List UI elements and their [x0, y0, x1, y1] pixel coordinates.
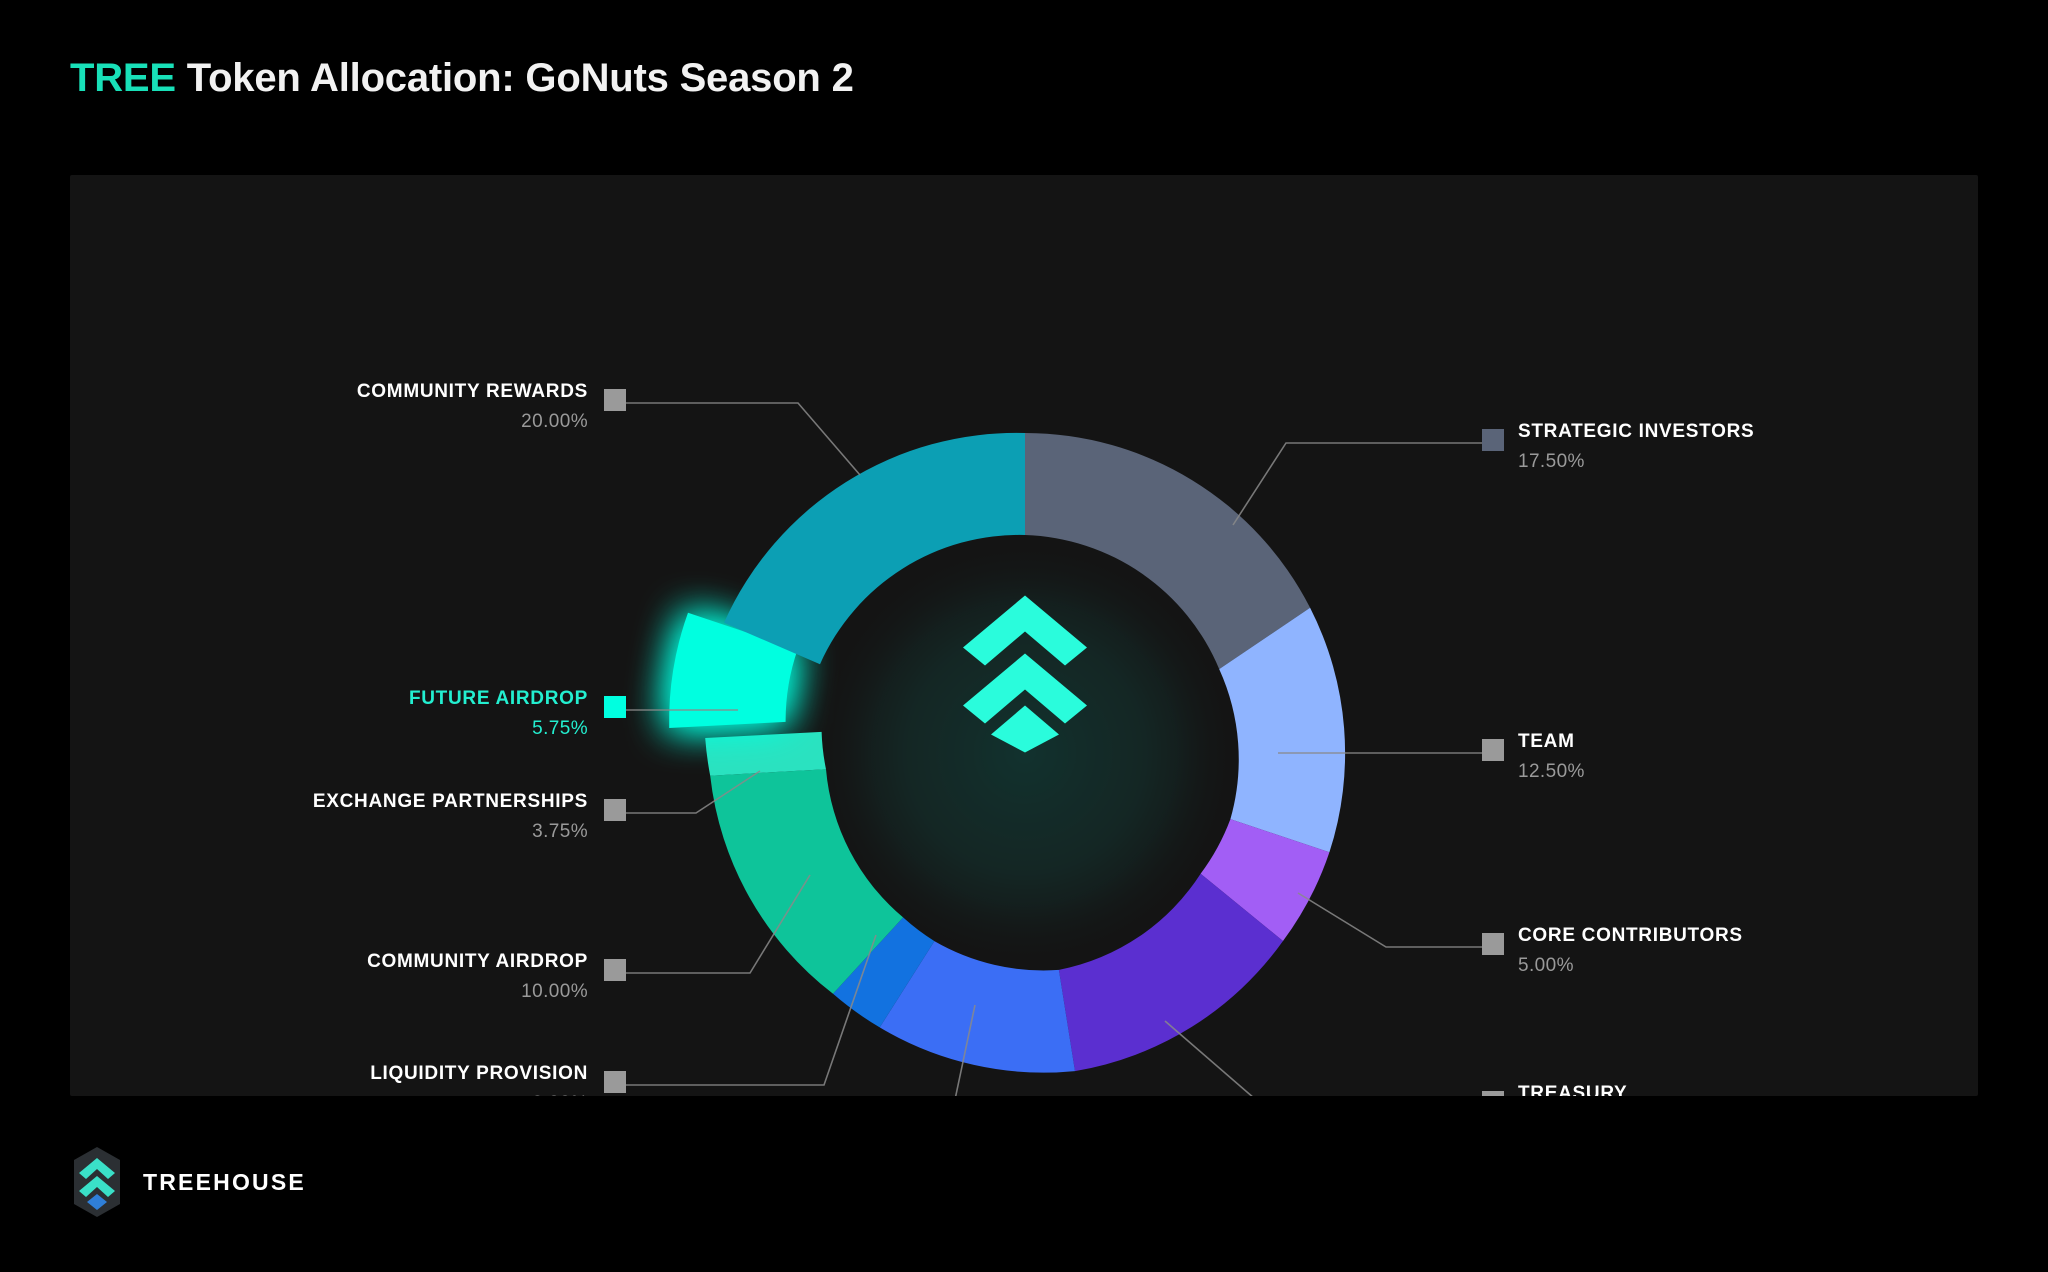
donut-core-inner: [875, 603, 1175, 903]
leader-line-strategic-investors: [1233, 443, 1482, 525]
legend-value: 3.00%: [370, 1094, 588, 1096]
donut-chart: STRATEGIC INVESTORS 17.50% TEAM 12.50% C…: [70, 175, 1978, 1096]
legend-item-community-rewards[interactable]: COMMUNITY REWARDS 20.00%: [357, 382, 588, 432]
legend-item-exchange-partnerships[interactable]: EXCHANGE PARTNERSHIPS 3.75%: [313, 792, 588, 842]
legend-swatch-community-airdrop: [604, 959, 626, 981]
page-title: TREE Token Allocation: GoNuts Season 2: [70, 56, 854, 101]
legend-label: TEAM: [1518, 732, 1585, 752]
legend-label: COMMUNITY REWARDS: [357, 382, 588, 402]
page-title-rest: Token Allocation: GoNuts Season 2: [176, 56, 854, 100]
legend-label: COMMUNITY AIRDROP: [367, 952, 588, 972]
brand-word: TREE: [70, 56, 176, 100]
legend-item-treasury[interactable]: TREASURY 12.50%: [1518, 1084, 1627, 1096]
legend-value: 5.00%: [1518, 956, 1743, 976]
legend-swatch-strategic-investors: [1482, 429, 1504, 451]
legend-swatch-liquidity-provision: [604, 1071, 626, 1093]
legend-label: EXCHANGE PARTNERSHIPS: [313, 792, 588, 812]
legend-value: 12.50%: [1518, 762, 1585, 782]
legend-swatch-future-airdrop: [604, 696, 626, 718]
legend-swatch-team: [1482, 739, 1504, 761]
legend-label: STRATEGIC INVESTORS: [1518, 422, 1754, 442]
legend-item-liquidity-provision[interactable]: LIQUIDITY PROVISION 3.00%: [370, 1064, 588, 1096]
legend-swatch-exchange-partnerships: [604, 799, 626, 821]
legend-value: 10.00%: [367, 982, 588, 1002]
legend-value: 3.75%: [313, 822, 588, 842]
leader-line-community-rewards: [626, 403, 860, 475]
legend-label: LIQUIDITY PROVISION: [370, 1064, 588, 1084]
legend-label: TREASURY: [1518, 1084, 1627, 1096]
treehouse-hex-badge-logo: [70, 1145, 124, 1219]
footer-brand-name: TREEHOUSE: [143, 1169, 306, 1196]
slice-exchange-partnerships[interactable]: [705, 732, 826, 776]
legend-item-strategic-investors[interactable]: STRATEGIC INVESTORS 17.50%: [1518, 422, 1754, 472]
legend-swatch-treasury: [1482, 1091, 1504, 1096]
leader-line-core-contributors: [1298, 893, 1482, 947]
legend-value: 20.00%: [357, 412, 588, 432]
legend-value: 17.50%: [1518, 452, 1754, 472]
legend-item-community-airdrop[interactable]: COMMUNITY AIRDROP 10.00%: [367, 952, 588, 1002]
legend-label: FUTURE AIRDROP: [409, 689, 588, 709]
chart-panel: STRATEGIC INVESTORS 17.50% TEAM 12.50% C…: [70, 175, 1978, 1096]
footer-brand: TREEHOUSE: [70, 1145, 306, 1219]
slide-canvas: TREE Token Allocation: GoNuts Season 2: [0, 0, 2048, 1272]
legend-item-team[interactable]: TEAM 12.50%: [1518, 732, 1585, 782]
legend-item-core-contributors[interactable]: CORE CONTRIBUTORS 5.00%: [1518, 926, 1743, 976]
leader-line-treasury: [1165, 1021, 1482, 1096]
legend-value: 5.75%: [409, 719, 588, 739]
legend-item-future-airdrop[interactable]: FUTURE AIRDROP 5.75%: [409, 689, 588, 739]
legend-swatch-core-contributors: [1482, 933, 1504, 955]
legend-swatch-community-rewards: [604, 389, 626, 411]
legend-label: CORE CONTRIBUTORS: [1518, 926, 1743, 946]
